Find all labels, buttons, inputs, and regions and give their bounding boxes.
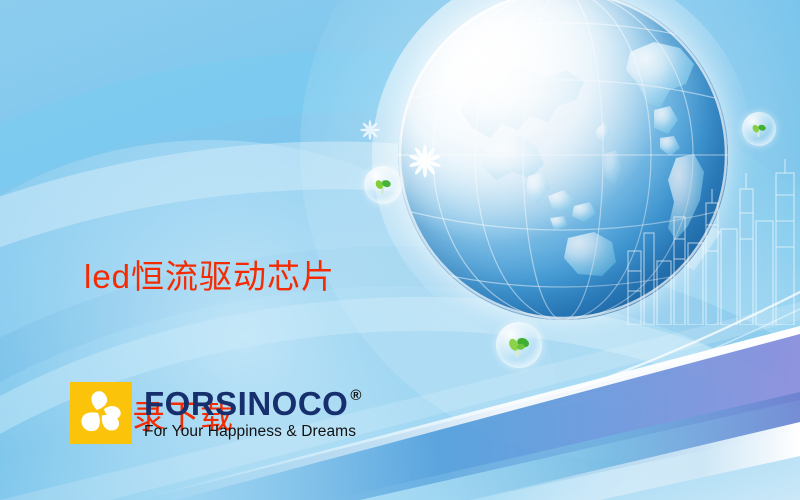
white-flower-burst-icon <box>360 120 380 140</box>
brand-name: FORSINOCO <box>144 387 348 420</box>
promo-banner: led恒流驱动芯片 目录下载 FORSINOCO ® <box>0 0 800 500</box>
brand-row: FORSINOCO ® <box>144 387 361 420</box>
green-sprout-icon <box>750 120 768 138</box>
four-petal-pinwheel-flower-icon <box>70 382 132 444</box>
page-title: led恒流驱动芯片 目录下载 <box>84 160 414 500</box>
brand-logo[interactable]: FORSINOCO ® For Your Happiness & Dreams <box>70 382 361 444</box>
logo-text-block: FORSINOCO ® For Your Happiness & Dreams <box>144 387 361 440</box>
brand-tagline: For Your Happiness & Dreams <box>144 424 361 440</box>
registered-trademark-icon: ® <box>350 388 361 403</box>
headline-line-1: led恒流驱动芯片 <box>84 254 414 301</box>
logo-mark <box>70 382 132 444</box>
bubble-with-green-sprout <box>742 112 776 146</box>
